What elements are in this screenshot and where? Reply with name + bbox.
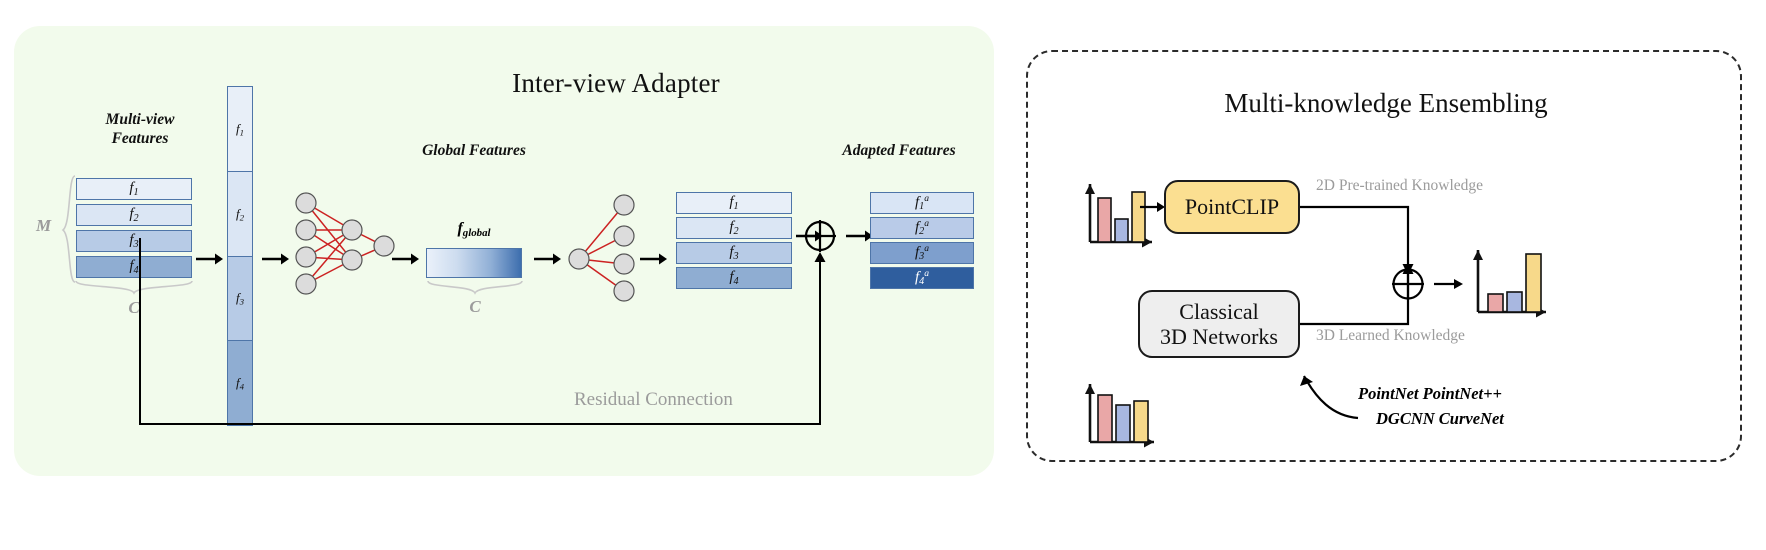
label-m: M <box>36 216 51 236</box>
feature-box: f2 <box>76 204 192 226</box>
panel-title-multi-knowledge-ensembling: Multi-knowledge Ensembling <box>1028 88 1744 119</box>
adapted-feature-stack: f1a f2a f3a f4a <box>870 192 974 289</box>
sum-operator-icon <box>1384 260 1432 308</box>
pointclip-node[interactable]: PointCLIP <box>1164 180 1300 234</box>
caption-adapted-features: Adapted Features <box>804 141 994 160</box>
feature-box: f2a <box>870 217 974 239</box>
feature-box: f3a <box>870 242 974 264</box>
inter-view-adapter-panel: Inter-view Adapter Multi-view Features f… <box>14 26 994 476</box>
label-residual-connection: Residual Connection <box>574 389 733 411</box>
label-backbones-line1: PointNet PointNet++ <box>1358 384 1502 404</box>
feature-box: f4a <box>870 267 974 289</box>
label-2d-pretrained-knowledge: 2D Pre-trained Knowledge <box>1316 177 1483 195</box>
feature-box: f1 <box>76 178 192 200</box>
brace-m <box>60 174 78 286</box>
feature-box: f1a <box>870 192 974 214</box>
caption-global-features: Global Features <box>394 141 554 160</box>
concat-segment: f1 <box>227 86 253 172</box>
ensembled-output-histogram <box>1464 234 1560 326</box>
caption-multi-view-features: Multi-view Features <box>60 110 220 149</box>
label-backbones-line2: DGCNN CurveNet <box>1376 409 1504 429</box>
classical-3d-networks-node[interactable]: Classical 3D Networks <box>1138 290 1300 358</box>
arrow-icon <box>1434 277 1464 291</box>
multi-knowledge-ensembling-panel: Multi-knowledge Ensembling PointCLIP Cla… <box>1026 50 1742 462</box>
feature-box: f1 <box>676 192 792 214</box>
classical-input-histogram <box>1076 372 1166 452</box>
panel-title-inter-view-adapter: Inter-view Adapter <box>14 68 994 99</box>
label-3d-learned-knowledge: 3D Learned Knowledge <box>1316 327 1465 345</box>
arrow-icon <box>1140 200 1166 214</box>
